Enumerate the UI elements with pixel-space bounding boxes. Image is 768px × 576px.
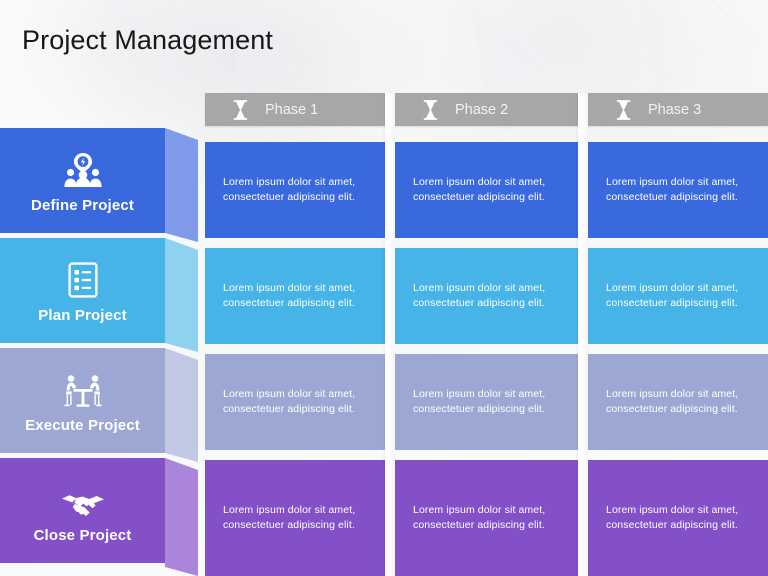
phase-header-1[interactable]: Phase 1 bbox=[205, 93, 385, 126]
cell-define-project-phase-3[interactable]: Lorem ipsum dolor sit amet, consectetuer… bbox=[588, 142, 768, 238]
cell-execute-project-phase-3[interactable]: Lorem ipsum dolor sit amet, consectetuer… bbox=[588, 354, 768, 450]
cell-plan-project-phase-3[interactable]: Lorem ipsum dolor sit amet, consectetuer… bbox=[588, 248, 768, 344]
cell-text: Lorem ipsum dolor sit amet, consectetuer… bbox=[395, 281, 578, 311]
row-bevel-execute-project bbox=[165, 348, 198, 462]
cell-define-project-phase-2[interactable]: Lorem ipsum dolor sit amet, consectetuer… bbox=[395, 142, 578, 238]
row-label-plan-project[interactable]: Plan Project bbox=[0, 238, 165, 343]
cell-execute-project-phase-2[interactable]: Lorem ipsum dolor sit amet, consectetuer… bbox=[395, 354, 578, 450]
row-bevel-plan-project bbox=[165, 238, 198, 352]
cell-execute-project-phase-1[interactable]: Lorem ipsum dolor sit amet, consectetuer… bbox=[205, 354, 385, 450]
hourglass-icon bbox=[413, 100, 447, 120]
column-divider-2 bbox=[578, 93, 588, 576]
cell-close-project-phase-3[interactable]: Lorem ipsum dolor sit amet, consectetuer… bbox=[588, 460, 768, 576]
hourglass-icon bbox=[223, 100, 257, 120]
meeting-table-icon bbox=[61, 368, 105, 408]
cell-text: Lorem ipsum dolor sit amet, consectetuer… bbox=[205, 387, 385, 417]
row-label-execute-project[interactable]: Execute Project bbox=[0, 348, 165, 453]
checklist-icon bbox=[68, 258, 98, 298]
people-idea-icon bbox=[62, 148, 104, 188]
phase-header-2[interactable]: Phase 2 bbox=[395, 93, 578, 126]
cell-plan-project-phase-1[interactable]: Lorem ipsum dolor sit amet, consectetuer… bbox=[205, 248, 385, 344]
row-label-text: Close Project bbox=[34, 527, 132, 544]
phase-label: Phase 1 bbox=[265, 102, 318, 118]
cell-text: Lorem ipsum dolor sit amet, consectetuer… bbox=[205, 281, 385, 311]
row-label-text: Define Project bbox=[31, 197, 134, 214]
row-label-text: Plan Project bbox=[38, 307, 127, 324]
cell-text: Lorem ipsum dolor sit amet, consectetuer… bbox=[395, 175, 578, 205]
cell-close-project-phase-2[interactable]: Lorem ipsum dolor sit amet, consectetuer… bbox=[395, 460, 578, 576]
row-label-define-project[interactable]: Define Project bbox=[0, 128, 165, 233]
cell-plan-project-phase-2[interactable]: Lorem ipsum dolor sit amet, consectetuer… bbox=[395, 248, 578, 344]
row-bevel-define-project bbox=[165, 128, 198, 242]
hourglass-icon bbox=[606, 100, 640, 120]
row-label-text: Execute Project bbox=[25, 417, 140, 434]
cell-text: Lorem ipsum dolor sit amet, consectetuer… bbox=[395, 387, 578, 417]
cell-text: Lorem ipsum dolor sit amet, consectetuer… bbox=[205, 175, 385, 205]
cell-text: Lorem ipsum dolor sit amet, consectetuer… bbox=[395, 503, 578, 533]
cell-define-project-phase-1[interactable]: Lorem ipsum dolor sit amet, consectetuer… bbox=[205, 142, 385, 238]
row-label-close-project[interactable]: Close Project bbox=[0, 458, 165, 563]
cell-text: Lorem ipsum dolor sit amet, consectetuer… bbox=[588, 281, 768, 311]
phase-header-3[interactable]: Phase 3 bbox=[588, 93, 768, 126]
cell-text: Lorem ipsum dolor sit amet, consectetuer… bbox=[588, 387, 768, 417]
cell-close-project-phase-1[interactable]: Lorem ipsum dolor sit amet, consectetuer… bbox=[205, 460, 385, 576]
column-divider-1 bbox=[385, 93, 395, 576]
cell-text: Lorem ipsum dolor sit amet, consectetuer… bbox=[588, 503, 768, 533]
cell-text: Lorem ipsum dolor sit amet, consectetuer… bbox=[588, 175, 768, 205]
row-bevel-close-project bbox=[165, 458, 198, 576]
page-title: Project Management bbox=[22, 25, 273, 56]
phase-label: Phase 3 bbox=[648, 102, 701, 118]
slide-canvas: Project Management Phase 1 Phase 2 Phase bbox=[0, 0, 768, 576]
phase-label: Phase 2 bbox=[455, 102, 508, 118]
handshake-icon bbox=[60, 478, 106, 518]
cell-text: Lorem ipsum dolor sit amet, consectetuer… bbox=[205, 503, 385, 533]
